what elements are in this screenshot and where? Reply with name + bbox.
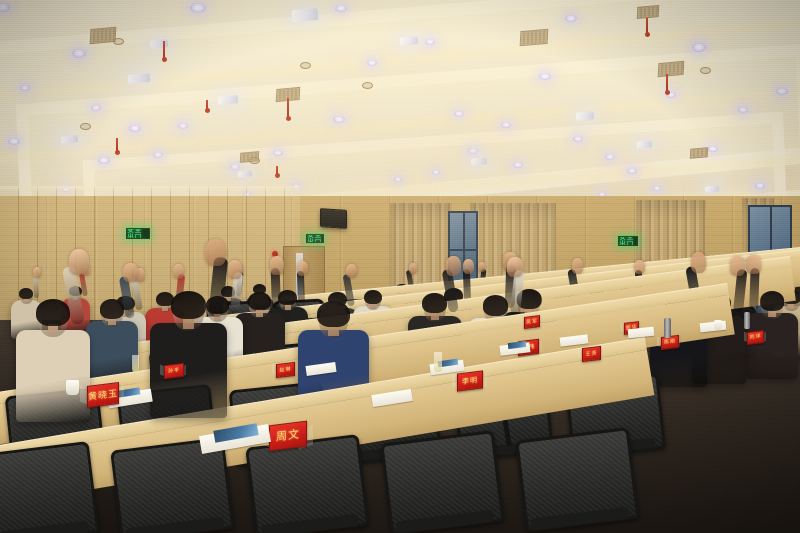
name-card-text: 赵琳 bbox=[279, 367, 291, 373]
downlight-icon bbox=[190, 3, 206, 13]
name-card-face: 李明 bbox=[457, 370, 483, 391]
attendee-raised-hand bbox=[572, 258, 584, 273]
sprinkler-head-icon bbox=[645, 32, 650, 37]
attendee-raised-hand bbox=[173, 264, 184, 278]
attendee-hair bbox=[317, 301, 349, 327]
water-glass bbox=[434, 352, 442, 372]
troffer-light-icon bbox=[705, 185, 719, 192]
smoke-detector-icon bbox=[80, 123, 91, 130]
name-card-text: 孙平 bbox=[168, 368, 180, 374]
smoke-detector-icon bbox=[300, 62, 311, 69]
name-card-tent: 刘洋 bbox=[744, 331, 767, 342]
troffer-light-icon bbox=[61, 135, 79, 143]
attendee-raised-hand bbox=[69, 249, 89, 275]
name-card-text: 王芳 bbox=[585, 351, 597, 357]
name-card-text: 刘洋 bbox=[750, 334, 762, 340]
attendee-hair bbox=[19, 288, 33, 299]
paper-cup bbox=[66, 380, 79, 395]
downlight-icon bbox=[432, 170, 440, 175]
attendee-raised-hand bbox=[446, 256, 461, 275]
name-card-tent: 李明 bbox=[452, 372, 488, 388]
attendee-hair bbox=[100, 299, 124, 318]
name-card-text: 周文 bbox=[276, 429, 300, 443]
sprinkler-head-icon bbox=[286, 116, 291, 121]
sprinkler-head-icon bbox=[665, 90, 670, 95]
troffer-light-icon bbox=[238, 170, 252, 177]
exit-sign-text: 安全出口 bbox=[127, 228, 149, 239]
attendee-raised-hand bbox=[205, 239, 226, 266]
attendee bbox=[148, 292, 229, 425]
hvac-grille-icon bbox=[520, 29, 549, 47]
attendee-raised-hand bbox=[270, 256, 284, 274]
name-card-face: 周文 bbox=[269, 421, 307, 452]
name-card-tent: 王芳 bbox=[578, 347, 604, 359]
name-card-face: 黄晓玉 bbox=[87, 382, 119, 408]
name-card-text: 陈刚 bbox=[664, 339, 676, 345]
attendee-raised-hand bbox=[634, 260, 645, 274]
attendee-hair bbox=[248, 292, 272, 311]
attendee-raised-hand bbox=[730, 256, 745, 275]
troffer-light-icon bbox=[292, 8, 319, 22]
attendee-raised-hand bbox=[463, 259, 474, 274]
troffer-light-icon bbox=[576, 111, 595, 121]
downlight-icon bbox=[394, 177, 402, 182]
attendee-raised-hand bbox=[478, 262, 486, 272]
wall-speaker bbox=[320, 208, 347, 229]
attendee-raised-hand bbox=[297, 261, 308, 276]
paper-cup bbox=[714, 320, 722, 330]
chair-mesh-back bbox=[0, 441, 100, 533]
smoke-detector-icon bbox=[113, 38, 124, 45]
smoke-detector-icon bbox=[362, 82, 373, 89]
sprinkler-head-icon bbox=[275, 173, 280, 178]
attendee bbox=[14, 300, 92, 428]
sprinkler-head-icon bbox=[115, 150, 120, 155]
attendee-hair bbox=[483, 295, 509, 315]
name-card-face: 孙平 bbox=[164, 363, 184, 379]
name-card-face: 吴军 bbox=[524, 315, 540, 329]
troffer-light-icon bbox=[400, 36, 419, 46]
downlight-icon bbox=[72, 49, 86, 58]
name-card-text: 吴军 bbox=[526, 319, 538, 325]
sprinkler-drop-icon bbox=[287, 98, 289, 118]
sprinkler-head-icon bbox=[162, 57, 167, 62]
conference-chair[interactable] bbox=[380, 431, 498, 530]
hvac-grille-icon bbox=[658, 61, 685, 77]
name-card-text: 黄晓玉 bbox=[88, 389, 118, 402]
attendee-raised-hand bbox=[33, 267, 41, 278]
name-card-text: 李明 bbox=[462, 377, 478, 386]
exit-sign-text: 安全出口 bbox=[307, 234, 323, 243]
smoke-detector-icon bbox=[700, 67, 711, 74]
exit-sign-right: 安全出口 bbox=[618, 236, 638, 246]
downlight-icon bbox=[653, 186, 661, 191]
name-card-face: 赵琳 bbox=[276, 362, 295, 378]
name-card-tent: 赵琳 bbox=[272, 363, 298, 375]
thermos-flask bbox=[744, 312, 750, 329]
exit-sign-center: 安全出口 bbox=[306, 234, 324, 243]
name-card-tent: 孙平 bbox=[160, 364, 187, 376]
attendee-raised-hand bbox=[746, 255, 760, 274]
smoke-detector-icon bbox=[249, 157, 260, 164]
attendee-torso bbox=[746, 313, 799, 379]
attendee-hair bbox=[171, 291, 206, 319]
exit-sign-text: 安全出口 bbox=[619, 236, 637, 246]
hvac-grille-icon bbox=[690, 147, 708, 159]
exit-sign-left: 安全出口 bbox=[126, 228, 150, 239]
conference-chair[interactable] bbox=[245, 435, 363, 533]
attendee-raised-hand bbox=[123, 263, 137, 282]
attendee-raised-hand bbox=[409, 263, 417, 274]
attendee-hair bbox=[36, 299, 70, 326]
attendee-hair bbox=[760, 291, 784, 310]
troffer-light-icon bbox=[150, 39, 169, 49]
troffer-light-icon bbox=[128, 73, 151, 84]
thermos-flask bbox=[664, 318, 671, 338]
attendee-raised-hand bbox=[346, 264, 357, 278]
attendee-hair bbox=[422, 293, 447, 313]
conference-chair[interactable] bbox=[0, 442, 93, 533]
troffer-light-icon bbox=[471, 157, 488, 165]
name-card-face: 刘洋 bbox=[747, 330, 764, 345]
water-glass bbox=[132, 355, 139, 372]
attendee-raised-hand bbox=[691, 252, 707, 272]
hvac-grille-icon bbox=[637, 5, 660, 19]
attendee-torso bbox=[16, 330, 89, 422]
conference-room-photo: 安全出口安全出口安全出口 黄晓玉周文李明张伟王芳陈刚刘洋孙平赵琳吴军郑华 bbox=[0, 0, 800, 533]
conference-chair[interactable] bbox=[515, 427, 633, 526]
name-card-face: 王芳 bbox=[582, 346, 601, 362]
downlight-icon bbox=[692, 43, 706, 52]
attendee-raised-hand bbox=[507, 257, 522, 277]
name-card-tent: 吴军 bbox=[521, 316, 542, 326]
window-mullion-horizontal bbox=[450, 249, 476, 251]
sprinkler-head-icon bbox=[205, 108, 210, 113]
attendee-raised-hand bbox=[228, 260, 242, 278]
name-card-tent: 黄晓玉 bbox=[80, 384, 125, 404]
troffer-light-icon bbox=[637, 140, 653, 148]
